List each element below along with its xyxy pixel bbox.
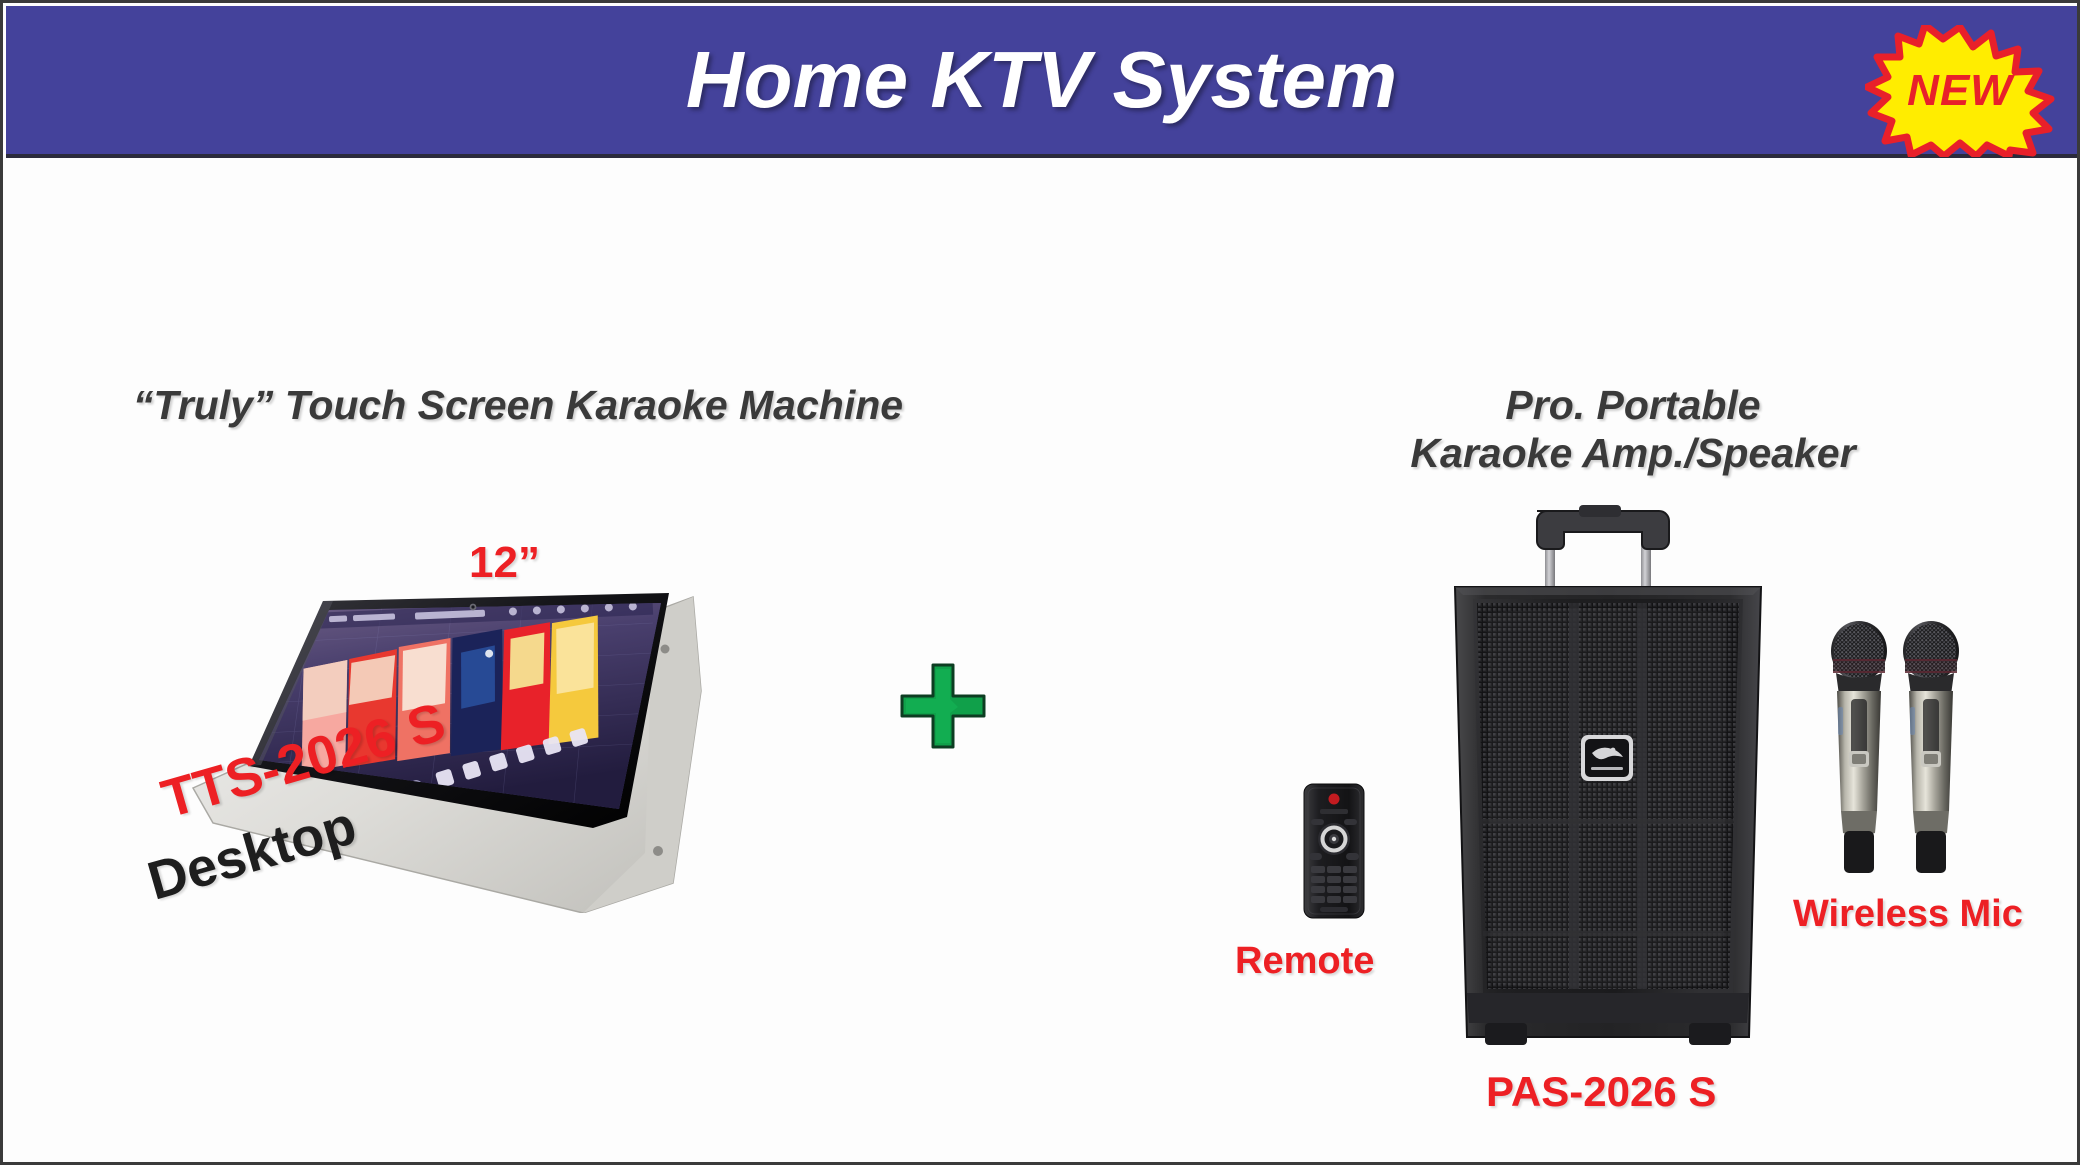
- remote-icon: [1298, 781, 1370, 921]
- remote-control: [1298, 781, 1370, 921]
- portable-speaker: [1433, 493, 1783, 1073]
- new-badge: NEW: [1865, 25, 2055, 157]
- starburst-icon: [1865, 25, 2055, 157]
- right-model-label: PAS-2026 S: [1486, 1068, 1716, 1116]
- wireless-microphones: [1821, 611, 1981, 881]
- left-product-heading: “Truly” Touch Screen Karaoke Machine: [88, 381, 948, 429]
- right-product-heading: Pro. Portable Karaoke Amp./Speaker: [1323, 381, 1943, 478]
- wireless-mic-label: Wireless Mic: [1793, 893, 2023, 936]
- remote-label: Remote: [1235, 940, 1374, 983]
- plus-combiner: [898, 661, 988, 751]
- screen-size-label: 12”: [469, 538, 540, 588]
- speaker-icon: [1433, 493, 1783, 1073]
- page-title: Home KTV System: [6, 6, 2077, 154]
- header-banner: Home KTV System: [6, 6, 2077, 158]
- ktv-product-poster: Home KTV System NEW “Truly” Touch Screen…: [0, 0, 2080, 1165]
- microphone-icon: [1821, 611, 1981, 881]
- plus-icon: [898, 661, 988, 751]
